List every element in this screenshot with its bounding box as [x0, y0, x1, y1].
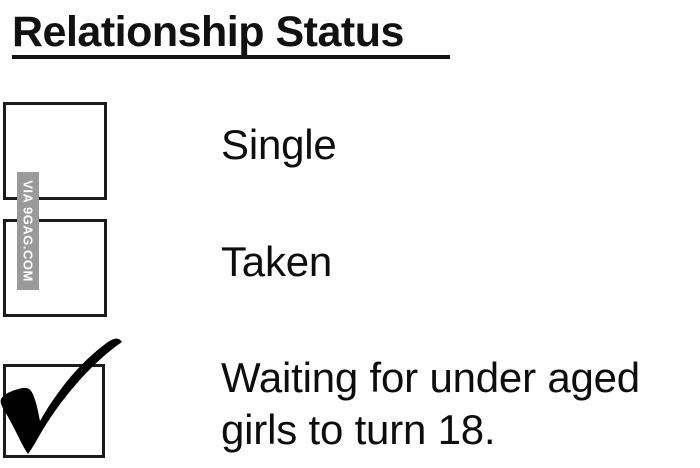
option-row[interactable]: Taken — [0, 217, 700, 325]
checkbox-waiting[interactable] — [3, 364, 105, 458]
title-block: Relationship Status — [12, 8, 472, 56]
option-row[interactable]: Waiting for under aged girls to turn 18. — [0, 360, 700, 468]
watermark: VIA 9GAG.COM — [17, 172, 39, 290]
option-label: Single — [221, 120, 700, 170]
meme-image: Relationship Status Single Taken Waiting… — [0, 0, 700, 468]
option-label: Waiting for under aged girls to turn 18. — [221, 352, 700, 456]
title-underline — [12, 55, 450, 59]
option-label: Taken — [221, 237, 700, 287]
option-row[interactable]: Single — [0, 100, 700, 208]
watermark-text: VIA 9GAG.COM — [22, 180, 35, 282]
page-title: Relationship Status — [12, 8, 472, 56]
